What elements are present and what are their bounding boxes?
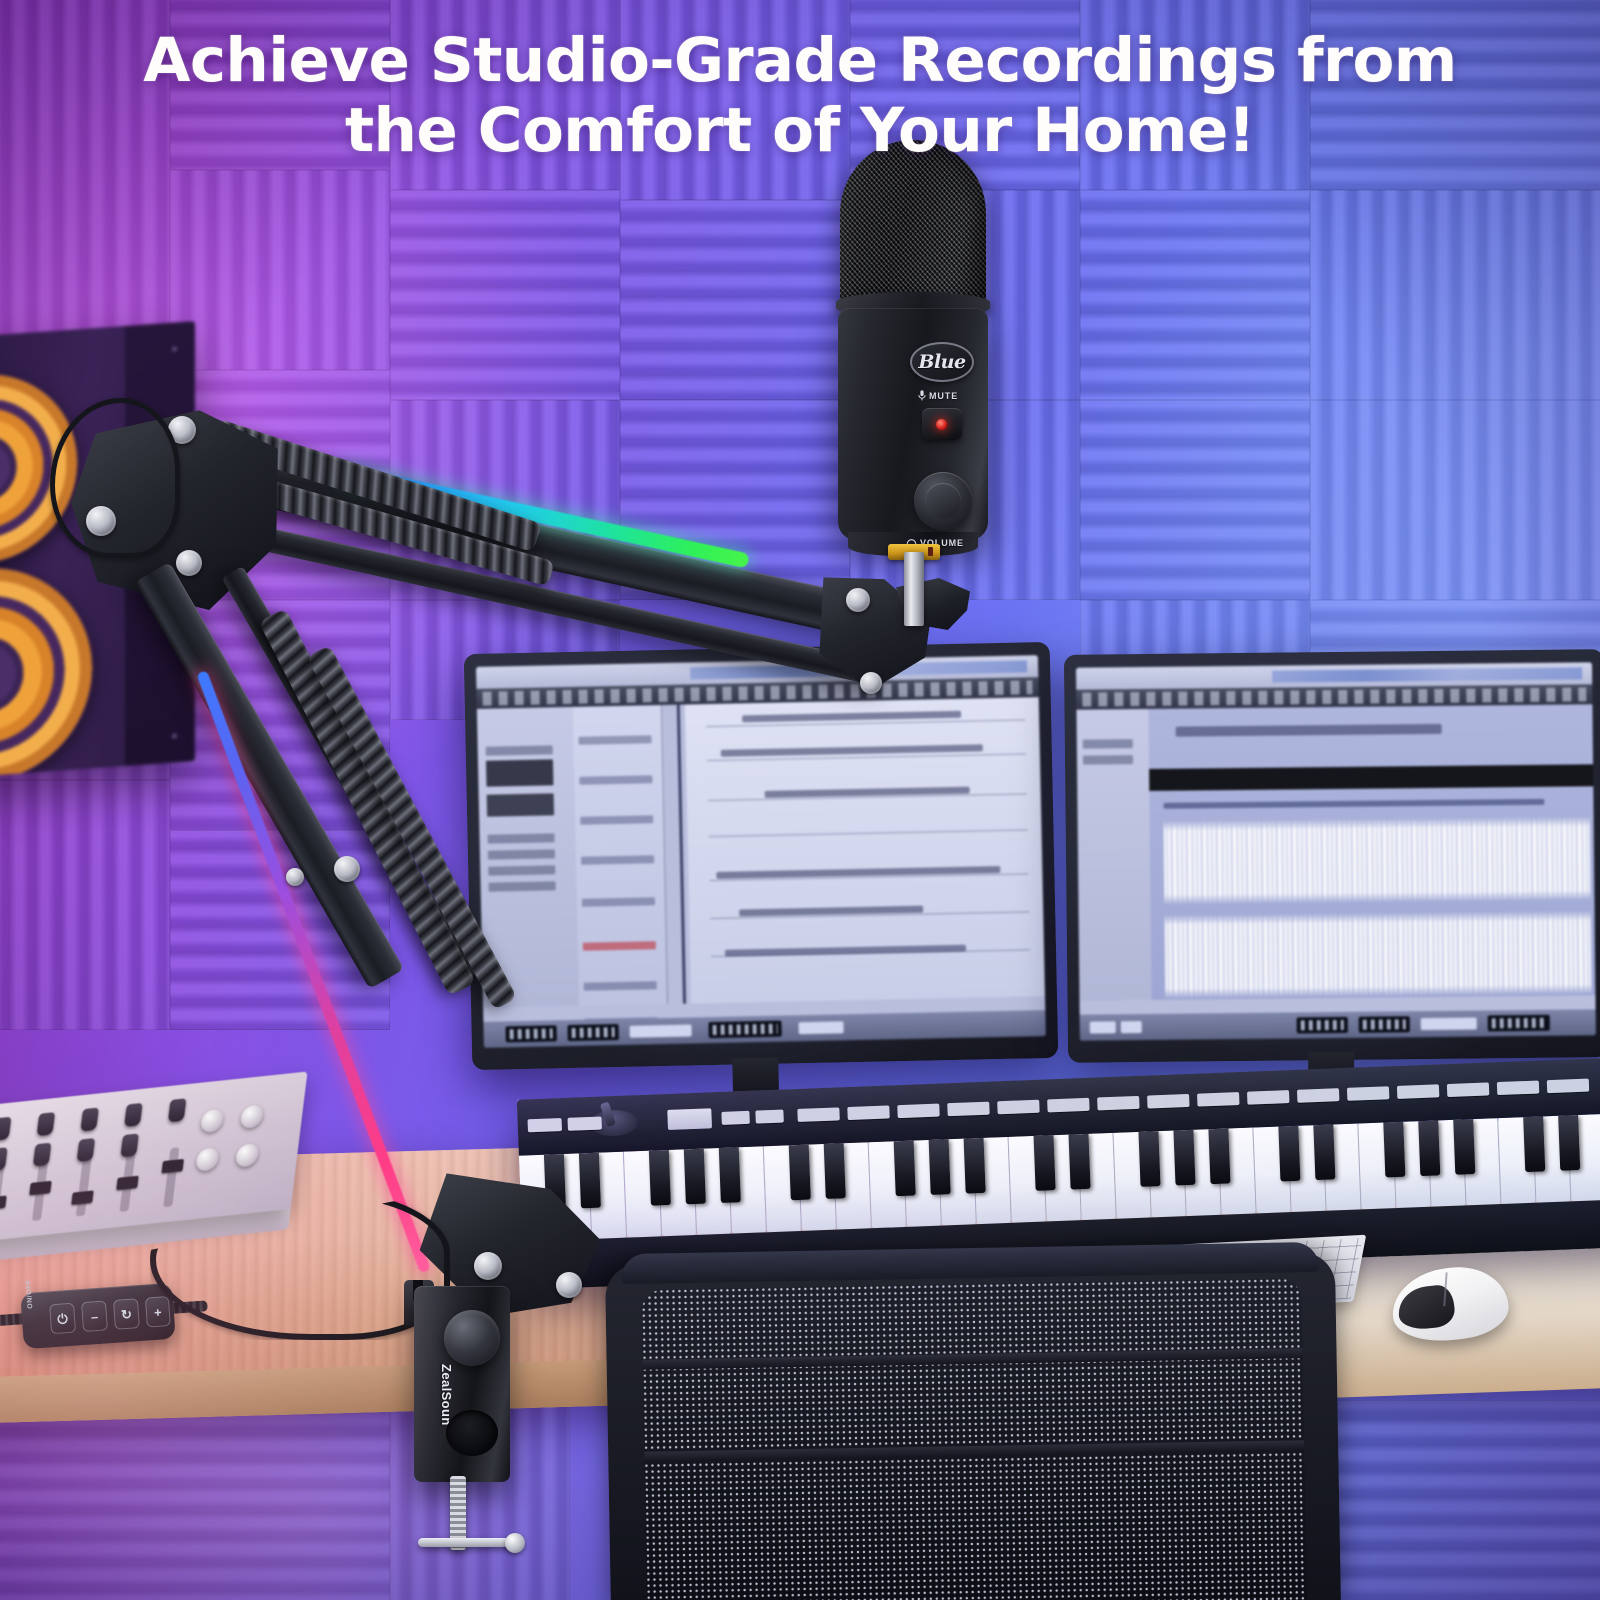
elbow-bolt-mid xyxy=(176,550,202,576)
lower-arm-bolt-mid xyxy=(334,856,360,882)
blue-logo-badge: Blue xyxy=(910,342,974,382)
yoke-bolt-bottom xyxy=(860,672,882,694)
mute-button[interactable] xyxy=(922,408,962,440)
clamp-mount-hole xyxy=(446,1410,498,1456)
mic-mount-stem xyxy=(904,552,924,626)
base-bolt-right xyxy=(556,1272,582,1298)
clamp-tightening-handle[interactable] xyxy=(418,1538,514,1547)
mute-led-indicator xyxy=(936,419,947,430)
clamp-brand-label: ZealSoun xyxy=(439,1364,454,1426)
clamp-swivel-ball xyxy=(444,1310,500,1366)
base-bolt-left xyxy=(474,1252,502,1280)
microphone-icon xyxy=(918,390,926,401)
desk-clamp: ZealSoun xyxy=(404,1286,524,1516)
headline-line-1: Achieve Studio-Grade Recordings from xyxy=(143,25,1457,96)
lower-arm-bolt-mid-2 xyxy=(286,868,304,886)
usb-condenser-microphone: Blue MUTE VOLUME xyxy=(826,140,998,570)
blue-logo-text: Blue xyxy=(918,351,965,373)
boom-arm-lower-spring-2 xyxy=(307,645,518,1010)
mic-cable-loop xyxy=(50,398,180,558)
page-title: Achieve Studio-Grade Recordings from the… xyxy=(0,26,1600,165)
mute-label: MUTE xyxy=(929,391,958,401)
yoke-bolt-top xyxy=(846,588,870,612)
product-marketing-image: Blue MUTE VOLUME xyxy=(0,0,1600,1600)
mute-label-row: MUTE xyxy=(918,390,958,401)
volume-knob[interactable] xyxy=(914,472,972,530)
microphone-boom-arm xyxy=(0,0,1600,1600)
headline-line-2: the Comfort of Your Home! xyxy=(96,96,1504,166)
